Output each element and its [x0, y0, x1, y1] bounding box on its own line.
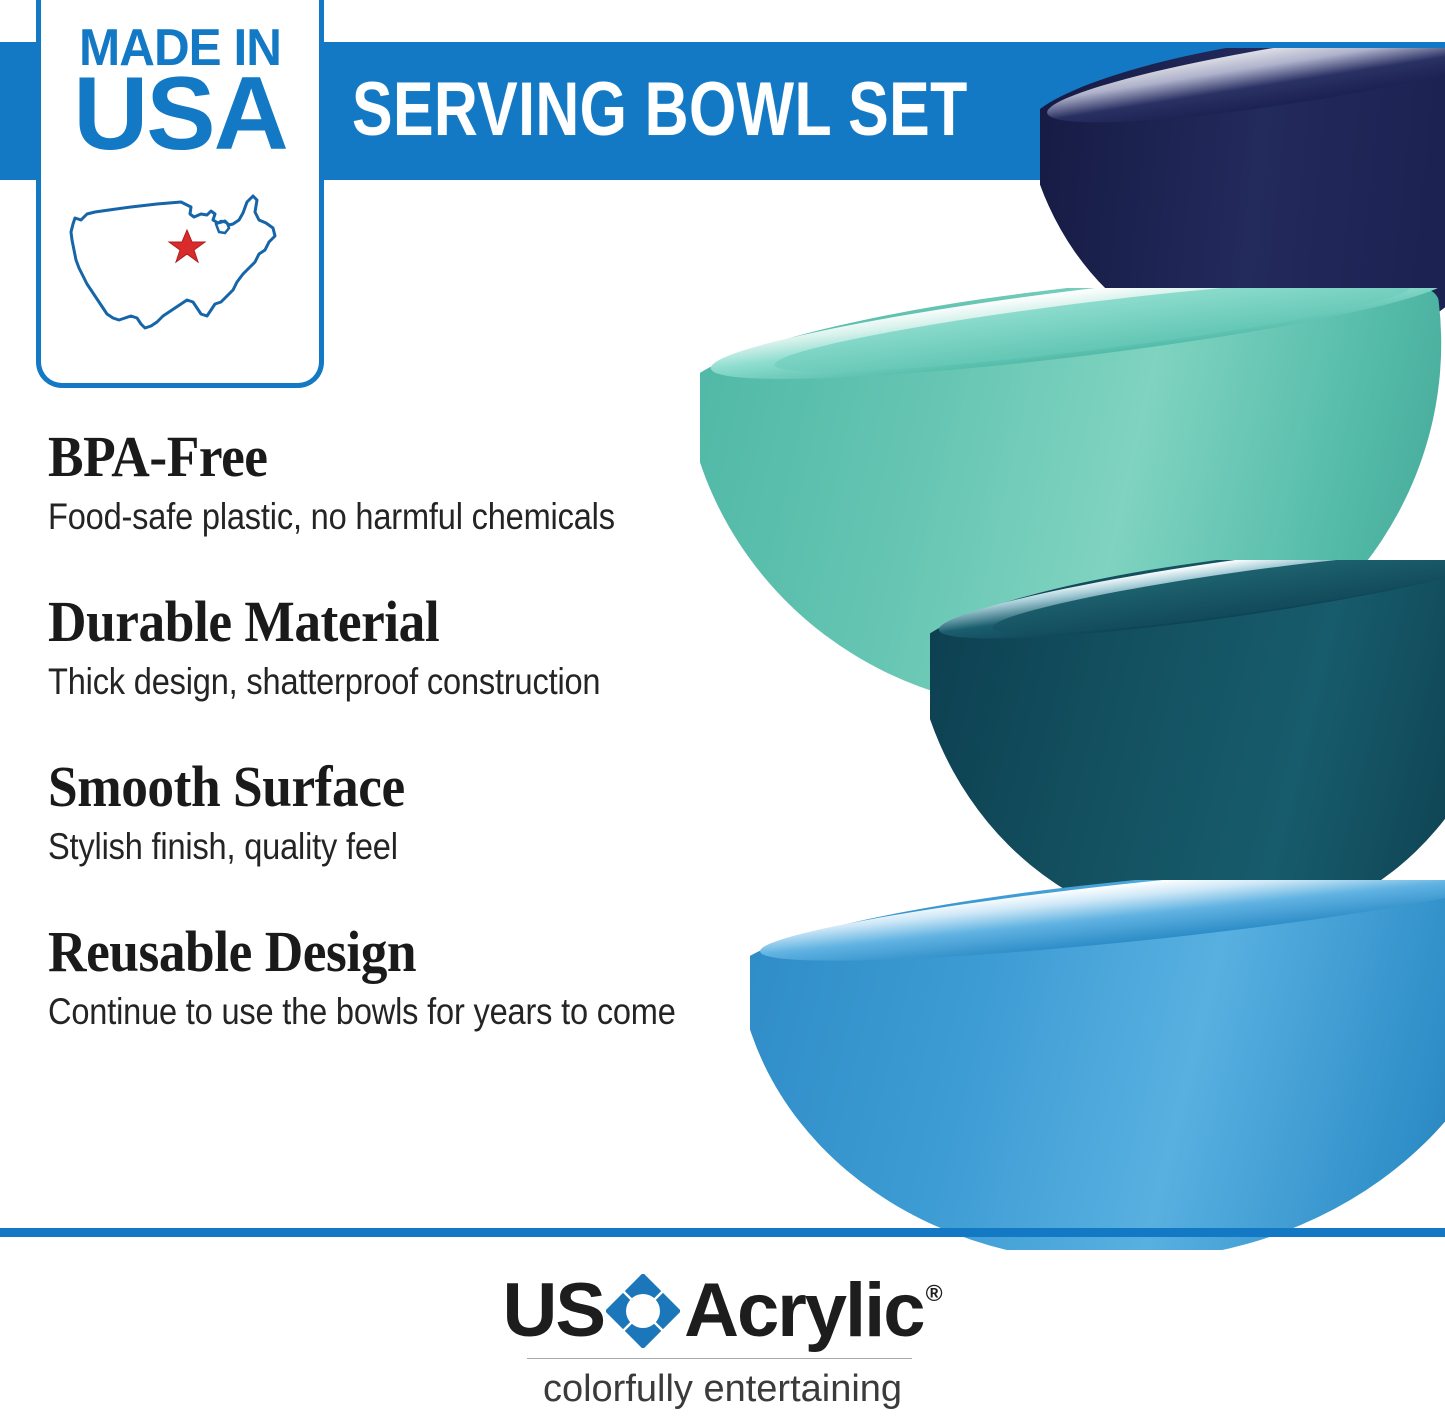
brand-tagline: colorfully entertaining	[0, 1368, 1445, 1411]
footer-divider	[0, 1228, 1445, 1237]
blue-diamond-logo-icon	[606, 1274, 680, 1348]
dark-teal-bowl	[930, 560, 1445, 930]
light-blue-bowl-rim	[757, 880, 1445, 980]
feature-item: Reusable Design Continue to use the bowl…	[48, 920, 828, 1036]
brand-logo: US Acrylic ®	[0, 1270, 1445, 1352]
registered-trademark-icon: ®	[926, 1280, 943, 1307]
made-in-usa-badge: MADE IN USA	[36, 0, 324, 388]
brand-logo-acrylic: Acrylic	[684, 1273, 924, 1349]
feature-description: Thick design, shatterproof construction	[48, 658, 734, 706]
mint-bowl-rim	[707, 288, 1445, 401]
dark-teal-bowl-rim	[935, 560, 1445, 658]
feature-title: Reusable Design	[48, 920, 766, 984]
feature-title: Durable Material	[48, 590, 766, 654]
red-star-icon	[169, 230, 205, 262]
usa-map-outline-icon	[61, 190, 309, 352]
light-blue-bowl	[750, 880, 1445, 1260]
brand-logo-us: US	[502, 1273, 604, 1349]
feature-title: BPA-Free	[48, 425, 766, 489]
mint-bowl-interior	[771, 288, 1412, 389]
badge-usa-label: USA	[41, 62, 319, 166]
infographic-canvas: SERVING BOWL SET MADE IN USA BPA-Free Fo…	[0, 0, 1445, 1424]
footer-brand-block: US Acrylic ® colorfully entertaining	[0, 1250, 1445, 1424]
feature-item: BPA-Free Food-safe plastic, no harmful c…	[48, 425, 828, 541]
feature-description: Food-safe plastic, no harmful chemicals	[48, 493, 734, 541]
dark-teal-bowl-interior	[990, 560, 1445, 649]
feature-description: Continue to use the bowls for years to c…	[48, 988, 734, 1036]
feature-title: Smooth Surface	[48, 755, 766, 819]
dark-teal-bowl-body	[930, 560, 1445, 930]
feature-description: Stylish finish, quality feel	[48, 823, 734, 871]
light-blue-bowl-body	[750, 880, 1445, 1260]
feature-item: Durable Material Thick design, shatterpr…	[48, 590, 828, 706]
feature-item: Smooth Surface Stylish finish, quality f…	[48, 755, 828, 871]
page-title: SERVING BOWL SET	[352, 60, 968, 160]
feature-list: BPA-Free Food-safe plastic, no harmful c…	[48, 425, 828, 1036]
brand-logo-rule	[527, 1358, 912, 1359]
